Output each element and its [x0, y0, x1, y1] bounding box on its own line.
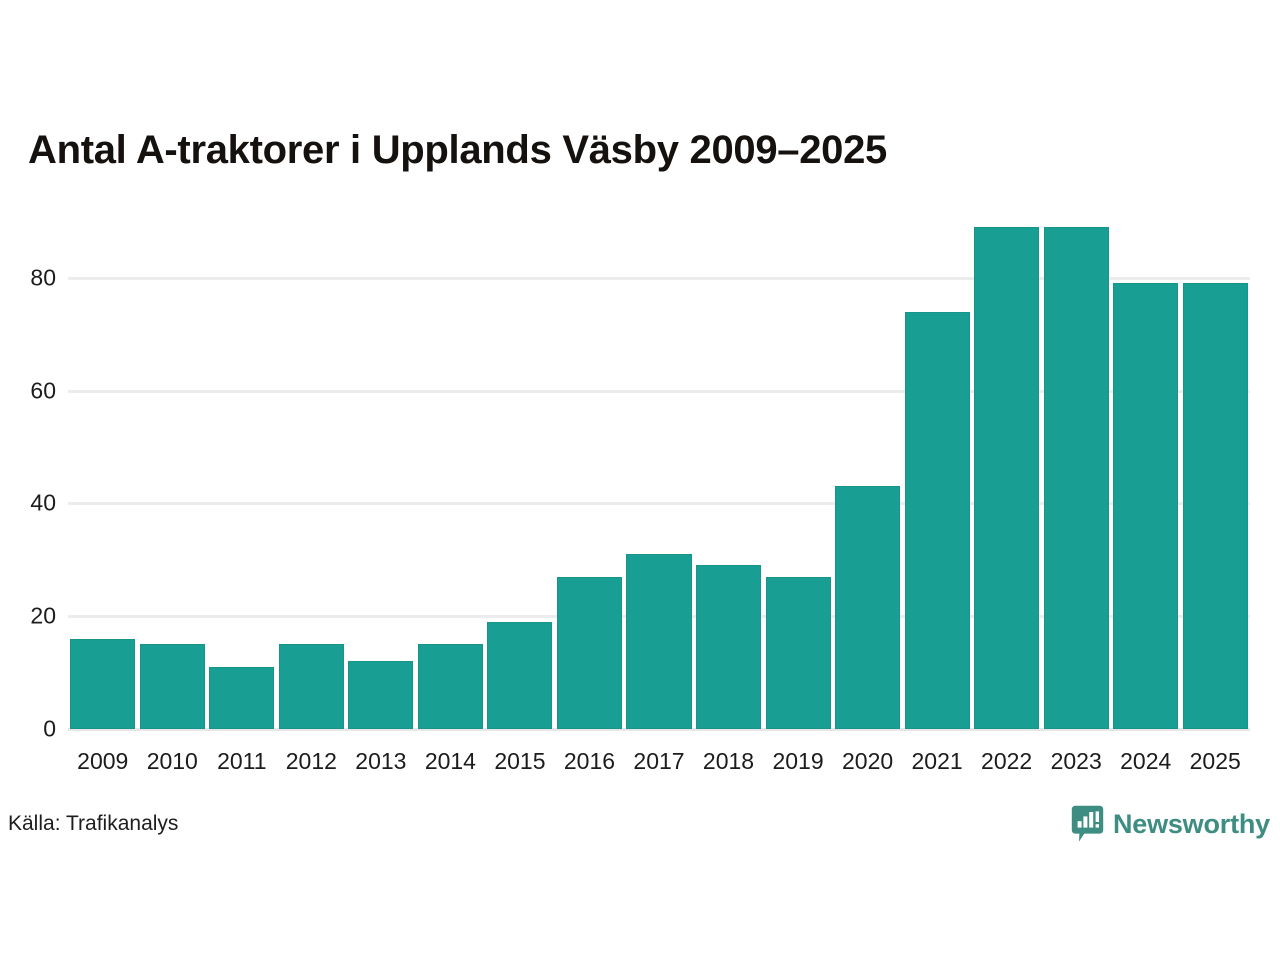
x-axis-labels: 2009201020112012201320142015201620172018… — [0, 0, 1280, 800]
x-axis-tick-2014: 2014 — [416, 748, 486, 775]
x-axis-tick-2011: 2011 — [207, 748, 277, 775]
chart-page: Antal A-traktorer i Upplands Väsby 2009–… — [0, 0, 1280, 960]
x-axis-tick-2010: 2010 — [138, 748, 208, 775]
x-axis-tick-2017: 2017 — [624, 748, 694, 775]
x-axis-tick-2021: 2021 — [902, 748, 972, 775]
x-axis-tick-2015: 2015 — [485, 748, 555, 775]
brand-logo[interactable]: Newsworthy — [1071, 805, 1270, 843]
chart-footer: Källa: Trafikanalys Newsworthy — [0, 800, 1280, 880]
source-note: Källa: Trafikanalys — [8, 812, 178, 836]
x-axis-tick-2020: 2020 — [833, 748, 903, 775]
chart-plot-area: 020406080 200920102011201220132014201520… — [0, 0, 1280, 800]
x-axis-tick-2025: 2025 — [1180, 748, 1250, 775]
x-axis-tick-2019: 2019 — [763, 748, 833, 775]
x-axis-tick-2022: 2022 — [972, 748, 1042, 775]
x-axis-tick-2012: 2012 — [277, 748, 347, 775]
x-axis-tick-2023: 2023 — [1041, 748, 1111, 775]
x-axis-tick-2009: 2009 — [68, 748, 138, 775]
x-axis-tick-2013: 2013 — [346, 748, 416, 775]
brand-name: Newsworthy — [1113, 809, 1270, 840]
newsworthy-chart-bubble-icon — [1071, 805, 1104, 843]
x-axis-tick-2016: 2016 — [555, 748, 625, 775]
x-axis-tick-2018: 2018 — [694, 748, 764, 775]
x-axis-tick-2024: 2024 — [1111, 748, 1181, 775]
